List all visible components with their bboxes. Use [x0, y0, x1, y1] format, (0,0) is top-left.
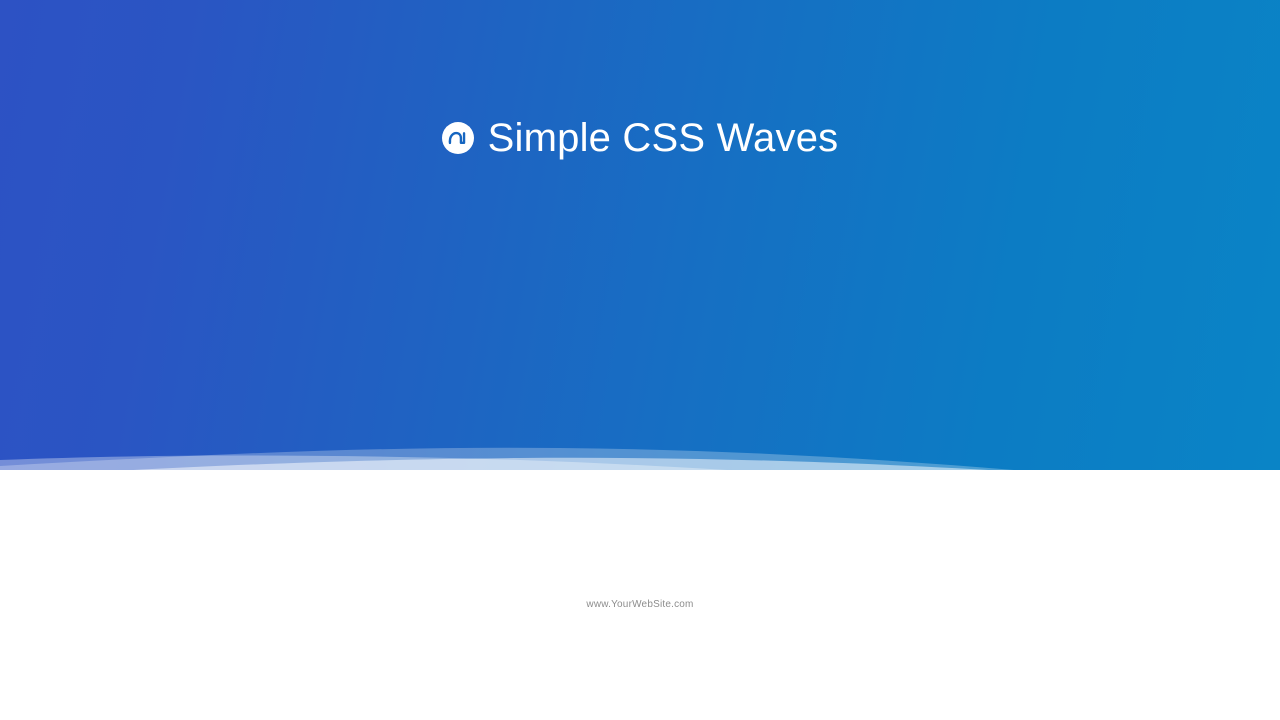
footer: www.YourWebSite.com — [0, 600, 1280, 610]
wave-layer-mid — [0, 456, 1280, 561]
brand-lockup: Simple CSS Waves — [442, 118, 839, 158]
website-url[interactable]: www.YourWebSite.com — [586, 600, 693, 610]
hero-content: Simple CSS Waves — [0, 0, 1280, 470]
wave-layer-solid — [0, 482, 1280, 560]
page-root: Simple CSS Waves www.YourWebSite.com — [0, 0, 1280, 720]
wave-logo-icon — [442, 122, 474, 154]
wave-layer-pale — [0, 477, 1280, 560]
wave-layer-front — [0, 458, 1280, 560]
hero-banner: Simple CSS Waves — [0, 0, 1280, 470]
page-title: Simple CSS Waves — [488, 118, 839, 158]
